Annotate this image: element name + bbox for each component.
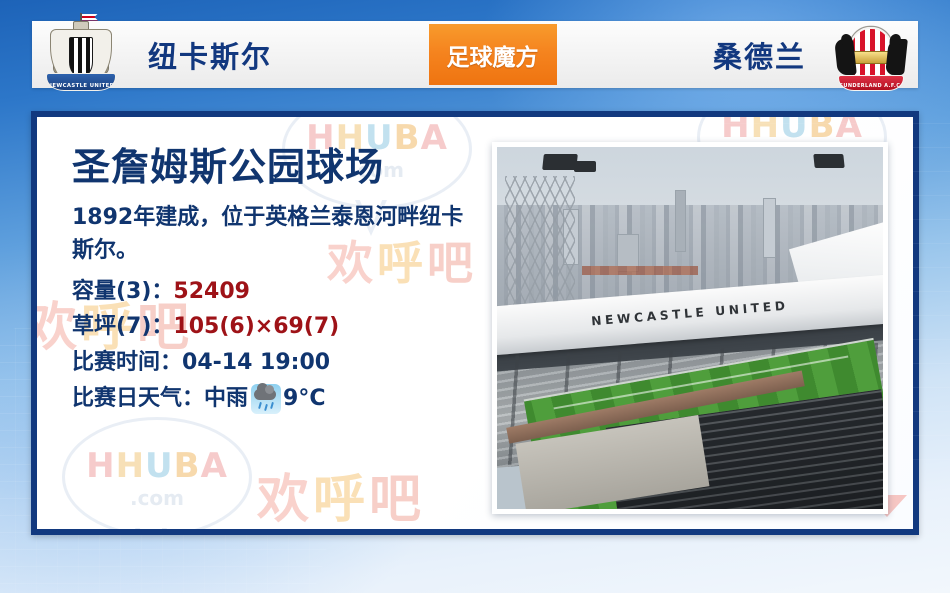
rain-drop [264, 403, 268, 410]
wm-char: 吧 [369, 470, 425, 529]
newcastle-united-crest-icon: NEWCASTLE UNITED [42, 13, 120, 97]
home-team-name: 纽卡斯尔 [148, 34, 272, 76]
match-header-bar: NEWCASTLE UNITED 纽卡斯尔 足球魔方 桑德兰 SUNDERLAN… [32, 21, 918, 88]
watermark-bubble-word: HHUBA [65, 446, 249, 486]
stadium-photo: NEWCASTLE UNITED [497, 147, 883, 509]
rain-drop [270, 401, 274, 408]
match-time-value: 04-14 19:00 [182, 350, 330, 375]
stadium-info-card: NEWCASTLE UNITED 纽卡斯尔 足球魔方 桑德兰 SUNDERLAN… [0, 0, 950, 593]
stadium-photo-frame: NEWCASTLE UNITED [492, 142, 888, 514]
stadium-info-column: 圣詹姆斯公园球场 1892年建成，位于英格兰泰恩河畔纽卡斯尔。 容量(3)：52… [72, 145, 492, 416]
wm-char: A [201, 446, 228, 486]
cloud-shape [254, 389, 276, 400]
capacity-label: 容量(3)： [72, 279, 173, 304]
wm-char: B [174, 446, 201, 486]
moderate-rain-icon [251, 384, 281, 414]
pitch-value: 105(6)×69(7) [173, 314, 339, 339]
crest-banner-text: SUNDERLAND A.F.C. [838, 75, 904, 91]
brand-logo[interactable]: 足球魔方 [429, 24, 557, 85]
pitch-label: 草坪(7)： [72, 314, 173, 339]
photo-building [763, 198, 776, 258]
capacity-row: 容量(3)：52409 [72, 274, 492, 310]
weather-row: 比赛日天气：中雨 9°C [72, 381, 492, 417]
photo-gantry-box [542, 154, 578, 170]
crest-banner-text: NEWCASTLE UNITED [46, 73, 116, 91]
match-time-row: 比赛时间：04-14 19:00 [72, 345, 492, 381]
stadium-content-panel: HHUBA .com HHUBA .com HHUBA .com [31, 111, 919, 535]
stadium-title: 圣詹姆斯公园球场 [72, 145, 492, 190]
weather-label: 比赛日天气： [72, 381, 204, 417]
stadium-description: 1892年建成，位于英格兰泰恩河畔纽卡斯尔。 [72, 201, 472, 267]
pitch-row: 草坪(7)：105(6)×69(7) [72, 309, 492, 345]
crest-lion-right [885, 39, 908, 75]
capacity-value: 52409 [173, 279, 250, 304]
watermark-bubble-bottomleft: HHUBA .com [62, 417, 252, 529]
away-team-name: 桑德兰 [713, 34, 806, 76]
sunderland-afc-crest-icon: SUNDERLAND A.F.C. [832, 13, 910, 97]
photo-red-rooftops [582, 266, 698, 275]
match-time-label: 比赛时间： [72, 350, 182, 375]
wm-char: 欢 [257, 470, 313, 529]
wm-char: 呼 [313, 470, 369, 529]
away-team-block[interactable]: 桑德兰 SUNDERLAND A.F.C. [713, 13, 910, 97]
photo-gantry-box [813, 154, 844, 168]
crest-flag [82, 14, 98, 21]
watermark-dotcom: .com [65, 486, 249, 510]
watermark-hanhuba-lower: 欢呼吧 [257, 457, 425, 529]
crest-stripes [69, 37, 93, 77]
home-team-block[interactable]: NEWCASTLE UNITED 纽卡斯尔 [42, 13, 272, 97]
wm-char: H [86, 446, 115, 486]
brand-logo-text: 足球魔方 [447, 38, 539, 72]
weather-condition: 中雨 [204, 381, 248, 417]
rain-drop [258, 401, 262, 408]
wm-char: U [145, 446, 174, 486]
weather-temperature: 9°C [283, 381, 325, 417]
crest-lion-left [834, 39, 857, 75]
photo-building [675, 190, 686, 252]
watermark-bubble-tail [135, 528, 167, 529]
photo-gantry-box [574, 161, 596, 172]
wm-char: H [116, 446, 145, 486]
